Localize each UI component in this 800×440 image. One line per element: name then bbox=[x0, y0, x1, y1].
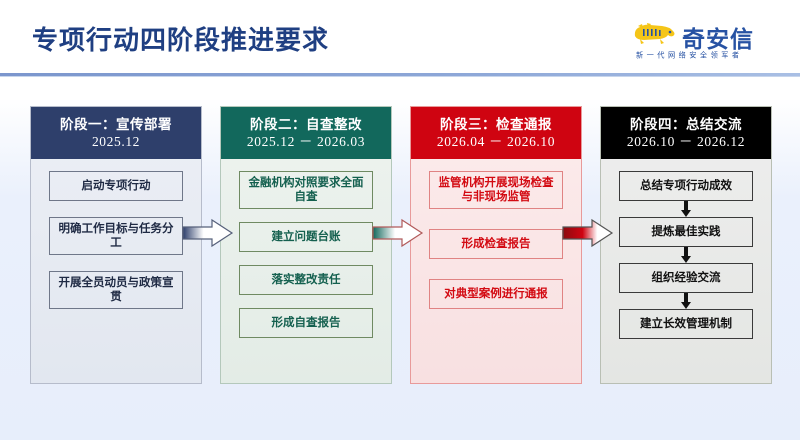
brand-tagline: 新一代网络安全领军者 bbox=[636, 50, 743, 61]
header-band: 专项行动四阶段推进要求 奇安信 新一代网络安全领军者 bbox=[0, 0, 800, 100]
tiger-mascot-icon bbox=[632, 22, 678, 48]
list-item[interactable]: 落实整改责任 bbox=[239, 265, 373, 295]
brand-name: 奇安信 bbox=[682, 20, 754, 54]
phase-1-header: 阶段一：宣传部署 2025.12 bbox=[31, 107, 201, 159]
list-item[interactable]: 监管机构开展现场检查与非现场监管 bbox=[429, 171, 563, 209]
list-item[interactable]: 提炼最佳实践 bbox=[619, 217, 753, 247]
list-item[interactable]: 金融机构对照要求全面自查 bbox=[239, 171, 373, 209]
phase-2-items: 金融机构对照要求全面自查 建立问题台账 落实整改责任 形成自查报告 bbox=[221, 159, 391, 383]
phase-3-title: 阶段三：检查通报 bbox=[440, 116, 552, 133]
phase-3-header: 阶段三：检查通报 2026.04 － 2026.10 bbox=[411, 107, 581, 159]
list-item[interactable]: 明确工作目标与任务分工 bbox=[49, 217, 183, 255]
list-item[interactable]: 总结专项行动成效 bbox=[619, 171, 753, 201]
phase-3-date: 2026.04 － 2026.10 bbox=[437, 133, 555, 151]
phase-1-items: 启动专项行动 明确工作目标与任务分工 开展全员动员与政策宣贯 bbox=[31, 159, 201, 383]
phase-2-title: 阶段二：自查整改 bbox=[250, 116, 362, 133]
list-item[interactable]: 对典型案例进行通报 bbox=[429, 279, 563, 309]
phase-2-date: 2025.12 － 2026.03 bbox=[247, 133, 365, 151]
phase-flow-diagram: 阶段一：宣传部署 2025.12 启动专项行动 明确工作目标与任务分工 开展全员… bbox=[0, 100, 800, 390]
phase-column-1: 阶段一：宣传部署 2025.12 启动专项行动 明确工作目标与任务分工 开展全员… bbox=[30, 106, 202, 384]
phase-2-header: 阶段二：自查整改 2025.12 － 2026.03 bbox=[221, 107, 391, 159]
phase-column-2: 阶段二：自查整改 2025.12 － 2026.03 金融机构对照要求全面自查 … bbox=[220, 106, 392, 384]
list-item[interactable]: 建立长效管理机制 bbox=[619, 309, 753, 339]
phase-1-title: 阶段一：宣传部署 bbox=[60, 116, 172, 133]
list-item[interactable]: 建立问题台账 bbox=[239, 222, 373, 252]
right-arrow-icon-2 bbox=[372, 218, 424, 248]
list-item[interactable]: 组织经验交流 bbox=[619, 263, 753, 293]
phase-4-header: 阶段四：总结交流 2026.10 － 2026.12 bbox=[601, 107, 771, 159]
page-title: 专项行动四阶段推进要求 bbox=[32, 20, 329, 57]
phase-column-4: 阶段四：总结交流 2026.10 － 2026.12 总结专项行动成效 提炼最佳… bbox=[600, 106, 772, 384]
brand-logo: 奇安信 新一代网络安全领军者 bbox=[632, 20, 782, 66]
list-item[interactable]: 开展全员动员与政策宣贯 bbox=[49, 271, 183, 309]
phase-4-title: 阶段四：总结交流 bbox=[630, 116, 742, 133]
right-arrow-icon-3 bbox=[562, 218, 614, 248]
list-item[interactable]: 形成检查报告 bbox=[429, 229, 563, 259]
title-divider-secondary bbox=[0, 76, 800, 77]
phase-4-date: 2026.10 － 2026.12 bbox=[627, 133, 745, 151]
right-arrow-icon-1 bbox=[182, 218, 234, 248]
phase-1-date: 2025.12 bbox=[92, 133, 140, 151]
list-item[interactable]: 形成自查报告 bbox=[239, 308, 373, 338]
phase-4-items: 总结专项行动成效 提炼最佳实践 组织经验交流 建立长效管理机制 bbox=[601, 159, 771, 383]
phase-column-3: 阶段三：检查通报 2026.04 － 2026.10 监管机构开展现场检查与非现… bbox=[410, 106, 582, 384]
list-item[interactable]: 启动专项行动 bbox=[49, 171, 183, 201]
phase-3-items: 监管机构开展现场检查与非现场监管 形成检查报告 对典型案例进行通报 bbox=[411, 159, 581, 383]
